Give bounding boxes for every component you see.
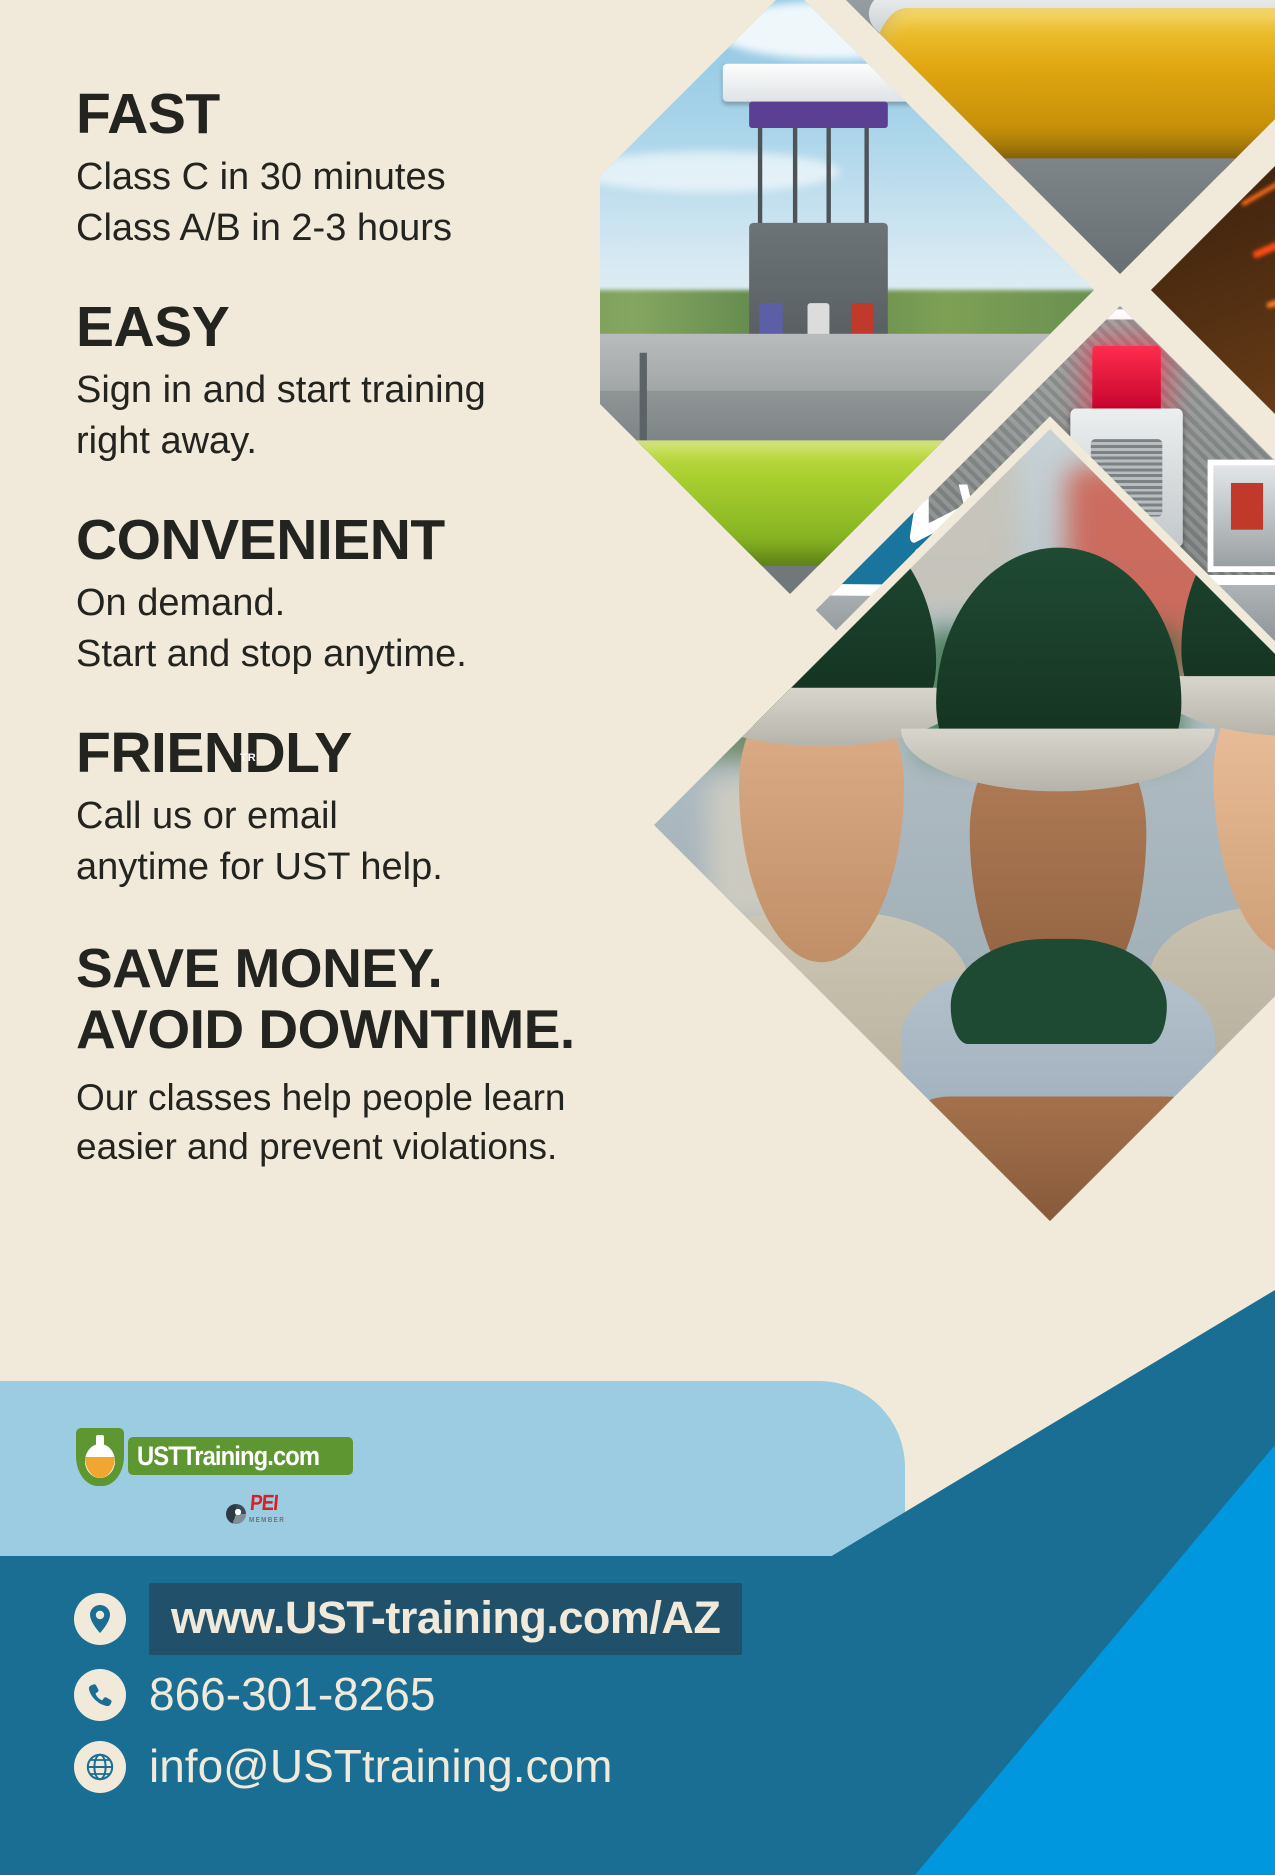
benefit-body: Call us or email anytime for UST help. xyxy=(76,791,640,892)
benefit-heading: EASY xyxy=(76,299,640,356)
pei-swirl-icon xyxy=(226,1504,246,1524)
contact-block: www.UST-training.com/AZ 866-301-8265 xyxy=(74,1583,974,1793)
benefit-body: Class C in 30 minutes Class A/B in 2-3 h… xyxy=(76,152,640,253)
save-body-line: easier and prevent violations. xyxy=(76,1122,640,1171)
shield-icon xyxy=(76,1428,124,1486)
poster-canvas: ONLY xyxy=(0,0,1275,1875)
benefit-heading: FRIENDLY xyxy=(76,725,640,782)
save-body: Our classes help people learn easier and… xyxy=(76,1073,640,1171)
benefit-body-line: Class C in 30 minutes xyxy=(76,152,640,203)
email-address[interactable]: info@USTtraining.com xyxy=(149,1741,612,1792)
benefit-block-convenient: CONVENIENT On demand. Start and stop any… xyxy=(76,512,640,679)
benefit-body: On demand. Start and stop anytime. xyxy=(76,578,640,679)
save-body-line: Our classes help people learn xyxy=(76,1073,640,1122)
benefit-body-line: Start and stop anytime. xyxy=(76,629,640,680)
pei-member-label: MEMBER xyxy=(249,1517,285,1524)
contact-row-email[interactable]: info@USTtraining.com xyxy=(74,1741,974,1793)
pei-name: PEI xyxy=(249,1490,285,1516)
benefit-block-friendly: FRIENDLY Call us or email anytime for US… xyxy=(76,725,640,892)
location-pin-icon xyxy=(74,1593,126,1645)
logo-wordmark-plate: USTTraining.com xyxy=(128,1437,353,1475)
benefit-body-line: On demand. xyxy=(76,578,640,629)
phone-icon xyxy=(74,1669,126,1721)
benefit-block-save-money: SAVE MONEY. AVOID DOWNTIME. Our classes … xyxy=(76,938,640,1171)
contact-row-phone[interactable]: 866-301-8265 xyxy=(74,1669,974,1721)
tr-watermark: TR xyxy=(240,752,257,764)
phone-number[interactable]: 866-301-8265 xyxy=(149,1669,435,1720)
ust-training-logo[interactable]: USTTraining.com PEI MEMBER xyxy=(76,1428,336,1486)
benefit-body-line: anytime for UST help. xyxy=(76,842,640,893)
benefit-heading: FAST xyxy=(76,86,640,143)
pei-member-badge: PEI MEMBER xyxy=(226,1490,289,1524)
globe-icon xyxy=(74,1741,126,1793)
benefit-body-line: Call us or email xyxy=(76,791,640,842)
logo-wordmark: USTTraining.com xyxy=(137,1441,319,1472)
benefit-body-line: right away. xyxy=(76,416,640,467)
save-heading: SAVE MONEY. AVOID DOWNTIME. xyxy=(76,938,640,1059)
save-heading-line: AVOID DOWNTIME. xyxy=(76,999,640,1060)
benefit-heading: CONVENIENT xyxy=(76,512,640,569)
benefits-column: FAST Class C in 30 minutes Class A/B in … xyxy=(0,0,640,1172)
benefit-body-line: Class A/B in 2-3 hours xyxy=(76,203,640,254)
contact-row-website[interactable]: www.UST-training.com/AZ xyxy=(74,1583,974,1655)
photo-collage: ONLY xyxy=(600,0,1275,1250)
fuel-droplet-icon xyxy=(85,1435,115,1479)
save-heading-line: SAVE MONEY. xyxy=(76,938,640,999)
benefit-block-easy: EASY Sign in and start training right aw… xyxy=(76,299,640,466)
benefit-block-fast: FAST Class C in 30 minutes Class A/B in … xyxy=(76,86,640,253)
website-url[interactable]: www.UST-training.com/AZ xyxy=(149,1583,742,1655)
benefit-body-line: Sign in and start training xyxy=(76,365,640,416)
benefit-body: Sign in and start training right away. xyxy=(76,365,640,466)
